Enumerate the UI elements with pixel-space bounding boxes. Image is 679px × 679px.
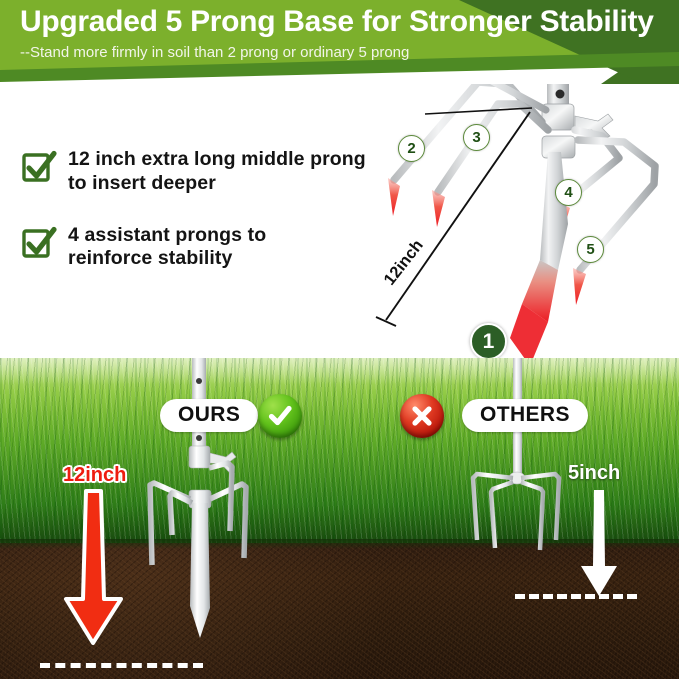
prong-3-tip bbox=[432, 190, 445, 227]
check-box-icon bbox=[22, 151, 56, 183]
ours-depth-dashed-line bbox=[40, 663, 203, 668]
callout-badge-5[interactable]: 5 bbox=[577, 236, 604, 263]
check-box-icon bbox=[22, 227, 56, 259]
pole-hole bbox=[556, 90, 565, 99]
green-check-circle-icon bbox=[258, 394, 302, 438]
callout-badge-3-label: 3 bbox=[472, 129, 480, 146]
feature-item-1: 12 inch extra long middle prong to inser… bbox=[22, 148, 422, 196]
feature-item-1-line2: to insert deeper bbox=[68, 172, 216, 194]
ours-pole-hole-1 bbox=[196, 378, 202, 384]
feature-item-2-line2: reinforce stability bbox=[68, 247, 232, 269]
ours-collar-upper bbox=[189, 446, 210, 468]
others-depth-label: 5inch bbox=[568, 462, 620, 485]
callout-badge-2[interactable]: 2 bbox=[398, 135, 425, 162]
prong-1-shaft bbox=[540, 152, 568, 270]
comparison-scene: OURS OTHERS 12inch 5inch bbox=[0, 358, 679, 679]
ours-pill-label: OURS bbox=[160, 399, 258, 432]
ours-prong-left-near bbox=[170, 493, 192, 535]
header-banner: Upgraded 5 Prong Base for Stronger Stabi… bbox=[0, 0, 679, 84]
callout-badge-4[interactable]: 4 bbox=[555, 179, 582, 206]
callout-badge-3[interactable]: 3 bbox=[463, 124, 490, 151]
callout-badge-4-label: 4 bbox=[564, 184, 572, 201]
down-arrow-white-icon bbox=[578, 490, 622, 600]
feature-item-1-line1: 12 inch extra long middle prong bbox=[68, 148, 366, 170]
others-pill-label: OTHERS bbox=[462, 399, 588, 432]
down-arrow-red-icon bbox=[60, 491, 130, 651]
callout-badge-5-label: 5 bbox=[586, 241, 594, 258]
callout-badge-2-label: 2 bbox=[407, 140, 415, 157]
prong-2-tip bbox=[388, 178, 400, 216]
feature-list: 12 inch extra long middle prong to inser… bbox=[22, 148, 422, 299]
feature-item-2-line1: 4 assistant prongs to bbox=[68, 224, 266, 246]
product-diagram-svg bbox=[370, 84, 679, 358]
callout-badge-1[interactable]: 1 bbox=[470, 323, 507, 358]
others-prong-4 bbox=[521, 482, 543, 550]
product-diagram: 1 2 3 4 5 12inch bbox=[370, 84, 679, 358]
prong-3-arm bbox=[438, 104, 548, 192]
callout-badge-1-label: 1 bbox=[483, 330, 495, 354]
red-cross-circle-icon bbox=[400, 394, 444, 438]
feature-item-2-text: 4 assistant prongs to reinforce stabilit… bbox=[68, 224, 266, 272]
ours-depth-label: 12inch bbox=[63, 464, 126, 487]
dimension-tick-top bbox=[425, 108, 532, 114]
others-prong-2 bbox=[491, 482, 513, 548]
feature-item-1-text: 12 inch extra long middle prong to inser… bbox=[68, 148, 366, 196]
feature-item-2: 4 assistant prongs to reinforce stabilit… bbox=[22, 224, 422, 272]
upper-panel: 12 inch extra long middle prong to inser… bbox=[0, 84, 679, 358]
page-subtitle: --Stand more firmly in soil than 2 prong… bbox=[20, 44, 409, 61]
product-infographic: Upgraded 5 Prong Base for Stronger Stabi… bbox=[0, 0, 679, 679]
prong-5-tip bbox=[573, 268, 586, 305]
page-title: Upgraded 5 Prong Base for Stronger Stabi… bbox=[20, 5, 654, 39]
others-depth-dashed-line bbox=[515, 594, 637, 599]
ours-center-prong bbox=[190, 503, 210, 638]
ours-pole-hole-2 bbox=[196, 435, 202, 441]
